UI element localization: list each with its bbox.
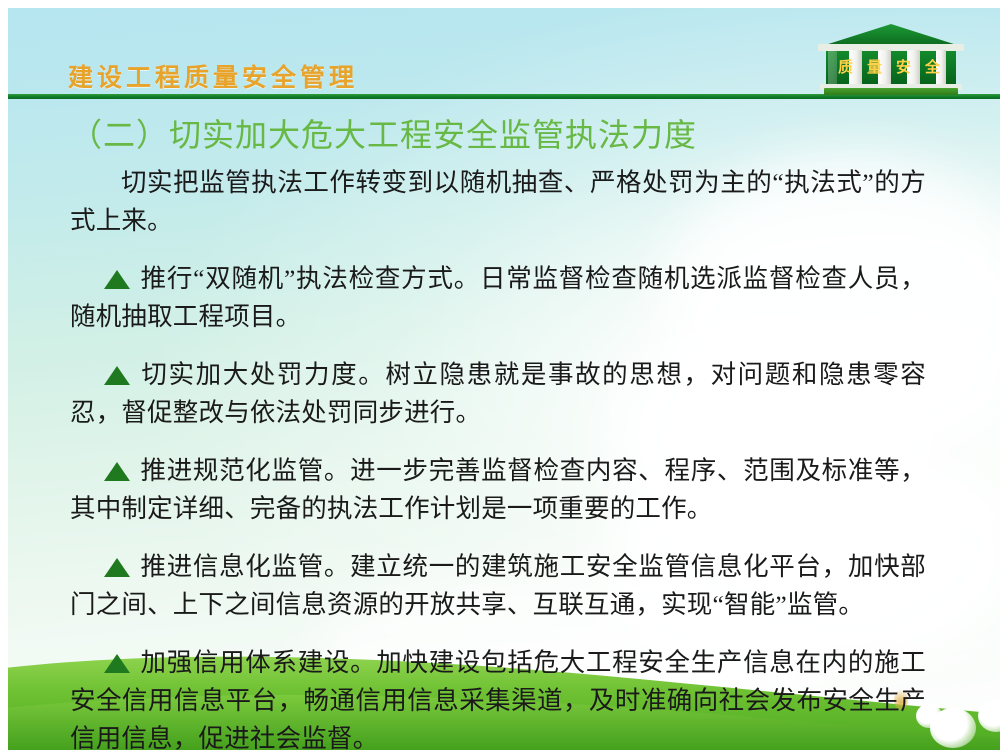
bullet-item: 推进规范化监管。进一步完善监督检查内容、程序、范围及标准等，其中制定详细、完备的…: [70, 452, 926, 528]
bullet-item: 加强信用体系建设。加快建设包括危大工程安全生产信息在内的施工安全信用信息平台，畅…: [70, 644, 926, 750]
triangle-bullet-icon: [104, 654, 130, 673]
intro-paragraph: 切实把监管执法工作转变到以随机抽查、严格处罚为主的“执法式”的方式上来。: [70, 164, 926, 240]
triangle-bullet-icon: [104, 558, 130, 577]
presentation-slide: 建设工程质量安全管理: [0, 0, 1000, 750]
svg-text:量: 量: [867, 59, 882, 76]
slide-left-margin: [0, 0, 8, 750]
svg-text:全: 全: [924, 58, 941, 76]
header-title: 建设工程质量安全管理: [68, 58, 358, 94]
bullet-item: 推行“双随机”执法检查方式。日常监督检查随机选派监督检查人员，随机抽取工程项目。: [70, 260, 926, 336]
bullet-text: 切实加大处罚力度。树立隐患就是事故的思想，对问题和隐患零容忍，督促整改与依法处罚…: [70, 360, 926, 427]
triangle-bullet-icon: [104, 270, 130, 289]
slide-top-margin: [0, 0, 1000, 8]
quality-safety-temple-logo: 质 量 安 全: [808, 22, 974, 98]
bullet-text: 推行“双随机”执法检查方式。日常监督检查随机选派监督检查人员，随机抽取工程项目。: [70, 264, 926, 331]
bullet-text: 加强信用体系建设。加快建设包括危大工程安全生产信息在内的施工安全信用信息平台，畅…: [70, 648, 926, 750]
triangle-bullet-icon: [104, 366, 130, 385]
bullet-item: 推进信息化监管。建立统一的建筑施工安全监管信息化平台，加快部门之间、上下之间信息…: [70, 548, 926, 624]
bullet-text: 推进规范化监管。进一步完善监督检查内容、程序、范围及标准等，其中制定详细、完备的…: [70, 456, 926, 523]
svg-text:安: 安: [896, 58, 911, 76]
slide-content: （二）切实加大危大工程安全监管执法力度 切实把监管执法工作转变到以随机抽查、严格…: [8, 112, 1000, 750]
slide-title: （二）切实加大危大工程安全监管执法力度: [70, 112, 1000, 158]
svg-text:质: 质: [838, 58, 853, 76]
bullet-text: 推进信息化监管。建立统一的建筑施工安全监管信息化平台，加快部门之间、上下之间信息…: [70, 552, 926, 619]
bullet-item: 切实加大处罚力度。树立隐患就是事故的思想，对问题和隐患零容忍，督促整改与依法处罚…: [70, 356, 926, 432]
slide-body: 切实把监管执法工作转变到以随机抽查、严格处罚为主的“执法式”的方式上来。 推行“…: [70, 164, 926, 750]
triangle-bullet-icon: [104, 462, 130, 481]
